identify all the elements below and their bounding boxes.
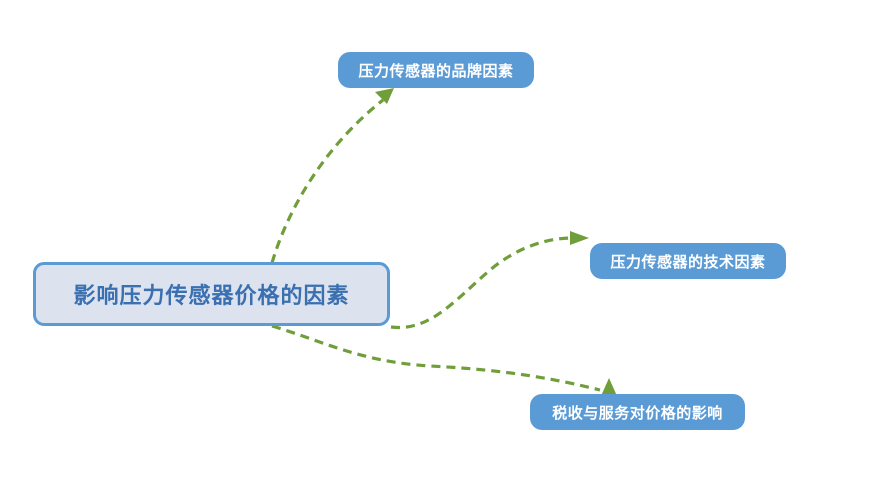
connector-root-to-tax — [272, 326, 617, 396]
connector-root-to-tech — [391, 231, 589, 328]
child-node-tech-label: 压力传感器的技术因素 — [610, 251, 765, 272]
connector-root-to-tech-line — [391, 238, 573, 328]
child-node-brand-label: 压力传感器的品牌因素 — [358, 60, 513, 81]
child-node-tax[interactable]: 税收与服务对价格的影响 — [530, 394, 745, 430]
mind-map-canvas: 影响压力传感器价格的因素 压力传感器的品牌因素 压力传感器的技术因素 税收与服务… — [0, 0, 876, 477]
root-node-label: 影响压力传感器价格的因素 — [73, 278, 349, 310]
connector-root-to-brand — [272, 88, 394, 263]
child-node-brand[interactable]: 压力传感器的品牌因素 — [338, 52, 534, 88]
connector-root-to-brand-line — [272, 100, 383, 263]
arrowhead-brand — [375, 88, 394, 104]
connector-root-to-tax-line — [272, 326, 600, 390]
arrowhead-tech — [570, 231, 589, 245]
child-node-tax-label: 税收与服务对价格的影响 — [552, 402, 723, 423]
child-node-tech[interactable]: 压力传感器的技术因素 — [590, 243, 786, 279]
root-node[interactable]: 影响压力传感器价格的因素 — [33, 262, 390, 326]
